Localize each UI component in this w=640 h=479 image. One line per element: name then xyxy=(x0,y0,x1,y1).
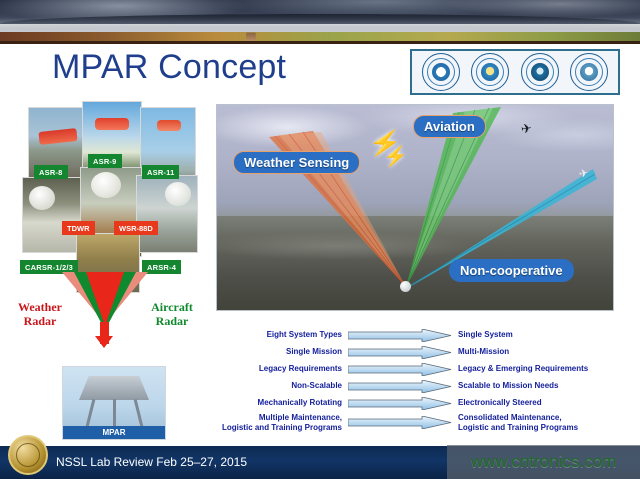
slide-footer: NSSL Lab Review Feb 25–27, 2015 www.cntr… xyxy=(0,446,640,479)
transition-arrow-icon xyxy=(348,416,452,429)
watermark: www.cntronics.com xyxy=(447,445,640,479)
tag-weather-sensing: Weather Sensing xyxy=(233,151,360,174)
tag-non-cooperative: Non-cooperative xyxy=(449,259,574,282)
dod-seal xyxy=(521,53,559,91)
comparison-row: Multiple Maintenance, Logistic and Train… xyxy=(200,413,640,433)
mpar-leg xyxy=(86,399,96,427)
comparison-left: Multiple Maintenance, Logistic and Train… xyxy=(200,413,348,432)
legacy-radar-collage: ASR-8 ASR-9 ASR-11 TDWR WSR-88D CARSR-1/… xyxy=(14,105,204,295)
transition-arrow-icon xyxy=(348,380,452,393)
footer-text: NSSL Lab Review Feb 25–27, 2015 xyxy=(56,455,247,469)
mpar-concept-scene: ⚡ ⚡ ✈ ✈ Aviation Weather Sensing Non-coo… xyxy=(216,104,614,311)
transition-arrow-icon xyxy=(348,397,452,410)
comparison-right: Single System xyxy=(452,330,640,340)
commerce-noaa-seal xyxy=(471,53,509,91)
dot-seal xyxy=(422,53,460,91)
aircraft-icon: ✈ xyxy=(520,120,533,137)
tag-aviation: Aviation xyxy=(413,115,486,138)
comparison-right: Consolidated Maintenance, Logistic and T… xyxy=(452,413,640,432)
banner-bottom-edge xyxy=(0,41,640,44)
comparison-left: Non-Scalable xyxy=(200,381,348,391)
mpar-radome-icon xyxy=(400,281,411,292)
inner-triangle xyxy=(86,272,124,326)
slide-canvas: MPAR Concept ASR-8 ASR-9 ASR-11 TDW xyxy=(0,0,640,479)
transition-arrow-icon xyxy=(348,363,452,376)
agency-seal-strip xyxy=(410,49,620,95)
comparison-right: Electronically Steered xyxy=(452,398,640,408)
transition-arrow-icon xyxy=(348,346,452,359)
comparison-right: Scalable to Mission Needs xyxy=(452,381,640,391)
page-title: MPAR Concept xyxy=(52,48,286,87)
convergence-funnel xyxy=(62,272,148,344)
radar-label-tdwr: TDWR xyxy=(62,221,95,235)
mpar-array-face xyxy=(79,376,149,400)
watermark-text: www.cntronics.com xyxy=(471,452,616,472)
aircraft-icon: ✈ xyxy=(578,166,589,180)
comparison-left: Eight System Types xyxy=(200,330,348,340)
mpar-leg xyxy=(113,399,116,427)
transition-arrow-icon xyxy=(348,329,452,342)
comparison-left: Single Mission xyxy=(200,347,348,357)
dhs-seal xyxy=(570,53,608,91)
lightning-icon: ⚡ xyxy=(383,147,408,167)
aircraft-radar-label: Aircraft Radar xyxy=(144,300,200,328)
comparison-right: Legacy & Emerging Requirements xyxy=(452,364,640,374)
storm-banner-image xyxy=(0,0,640,44)
comparison-left: Mechanically Rotating xyxy=(200,398,348,408)
comparison-row: Eight System Types Single System xyxy=(200,328,640,342)
nssl-seal-icon xyxy=(8,435,48,475)
comparison-row: Non-Scalable Scalable to Mission Needs xyxy=(200,379,640,393)
radar-label-asr-8: ASR-8 xyxy=(34,165,68,179)
mpar-caption: MPAR xyxy=(63,426,165,439)
radar-label-asr-11: ASR-11 xyxy=(142,165,179,179)
comparison-row: Legacy Requirements Legacy & Emerging Re… xyxy=(200,362,640,376)
arsr-4-photo xyxy=(136,175,198,253)
comparison-list: Eight System Types Single System Single … xyxy=(200,328,640,436)
comparison-left: Legacy Requirements xyxy=(200,364,348,374)
arrow-tip xyxy=(95,336,113,348)
radar-label-asr-9: ASR-9 xyxy=(88,154,122,168)
radar-label-wsr-88d: WSR-88D xyxy=(114,221,158,235)
comparison-row: Mechanically Rotating Electronically Ste… xyxy=(200,396,640,410)
mpar-leg xyxy=(134,399,144,427)
weather-radar-label: Weather Radar xyxy=(14,300,66,328)
comparison-row: Single Mission Multi-Mission xyxy=(200,345,640,359)
mpar-photo: MPAR xyxy=(62,366,166,440)
comparison-right: Multi-Mission xyxy=(452,347,640,357)
